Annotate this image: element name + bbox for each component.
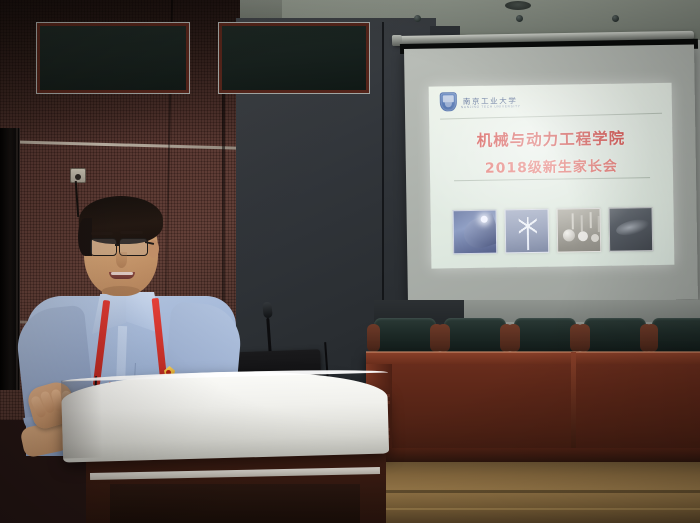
eyebrow-right xyxy=(120,231,143,234)
desk-mic-socket-icon xyxy=(612,15,619,22)
conference-desk-highlight xyxy=(366,351,700,353)
university-crest-icon xyxy=(440,92,457,111)
chair-armrest xyxy=(507,324,520,352)
solar-dish-thumbnail xyxy=(453,210,498,255)
conference-desk-top xyxy=(366,352,700,364)
conference-chair xyxy=(444,318,506,352)
teeth xyxy=(111,272,133,275)
chin-shadow xyxy=(102,286,140,296)
podium-desktop xyxy=(61,367,389,462)
wind-turbine-thumbnail xyxy=(505,209,550,254)
glasses-lens-left xyxy=(90,238,117,256)
desk-front-panel xyxy=(36,22,190,94)
chair-armrest xyxy=(577,324,590,352)
desk-base-plinth xyxy=(366,448,700,462)
microphone-capsule xyxy=(262,302,273,319)
conference-chair xyxy=(514,318,576,352)
chair-armrest xyxy=(367,324,380,352)
aerial-machinery-thumbnail xyxy=(609,207,654,252)
nose xyxy=(116,252,127,268)
projector-screen: 南京工业大学 NANJING TECH UNIVERSITY 机械与动力工程学院… xyxy=(404,44,698,304)
chair-armrest xyxy=(645,324,658,352)
ceiling-vent-icon xyxy=(505,1,531,10)
conference-chair xyxy=(652,318,700,352)
eyebrow-left xyxy=(91,232,113,235)
slide-header: 南京工业大学 xyxy=(429,83,672,117)
desk-joint xyxy=(571,352,576,452)
lecture-hall-photo: 南京工业大学 NANJING TECH UNIVERSITY 机械与动力工程学院… xyxy=(0,0,700,523)
desk-mic-socket-icon xyxy=(516,15,523,22)
slide-thumbnail-row xyxy=(453,207,654,252)
podium-shading xyxy=(61,379,103,458)
slide-title-primary: 机械与动力工程学院 xyxy=(429,126,672,152)
podium-base-lower xyxy=(110,484,360,523)
glasses-bridge xyxy=(115,244,120,246)
presentation-slide: 南京工业大学 NANJING TECH UNIVERSITY 机械与动力工程学院… xyxy=(429,83,675,269)
slide-title-secondary: 2018级新生家长会 xyxy=(430,155,673,179)
desk-front-panel xyxy=(218,22,370,94)
wall-outlet-icon[interactable] xyxy=(70,168,86,183)
conference-chair xyxy=(374,318,436,352)
conference-chair xyxy=(584,318,646,352)
chair-armrest xyxy=(437,324,450,352)
chemical-plant-thumbnail xyxy=(557,208,602,253)
desk-mic-socket-icon xyxy=(414,15,421,22)
